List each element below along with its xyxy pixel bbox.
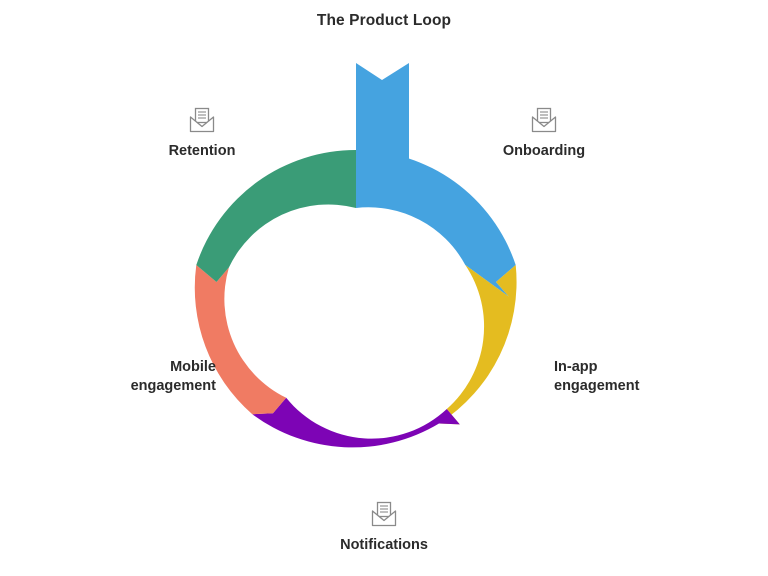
donut-segment-inapp-engagement[interactable] bbox=[439, 265, 517, 424]
open-envelope-letter-icon bbox=[367, 498, 401, 532]
donut-tail-arrow-onboarding bbox=[356, 63, 409, 200]
node-onboarding-label: Onboarding bbox=[503, 142, 585, 161]
donut-segment-retention[interactable] bbox=[196, 150, 356, 282]
donut-segment-notifications[interactable] bbox=[252, 398, 459, 448]
node-retention-label: Retention bbox=[169, 142, 236, 161]
open-envelope-letter-icon bbox=[527, 104, 561, 138]
node-retention[interactable]: Retention bbox=[140, 104, 264, 161]
node-mobile-engagement-label: Mobile engagement bbox=[131, 358, 216, 396]
node-inapp-engagement[interactable]: In-app engagement bbox=[554, 358, 704, 396]
node-mobile-engagement[interactable]: Mobile engagement bbox=[66, 358, 216, 396]
product-loop-diagram: The Product Loop Retention bbox=[0, 0, 768, 576]
node-notifications[interactable]: Notifications bbox=[322, 498, 446, 555]
product-loop-donut-chart bbox=[0, 0, 768, 576]
node-onboarding[interactable]: Onboarding bbox=[482, 104, 606, 161]
node-notifications-label: Notifications bbox=[340, 536, 428, 555]
open-envelope-letter-icon bbox=[185, 104, 219, 138]
node-inapp-engagement-label: In-app engagement bbox=[554, 358, 639, 396]
